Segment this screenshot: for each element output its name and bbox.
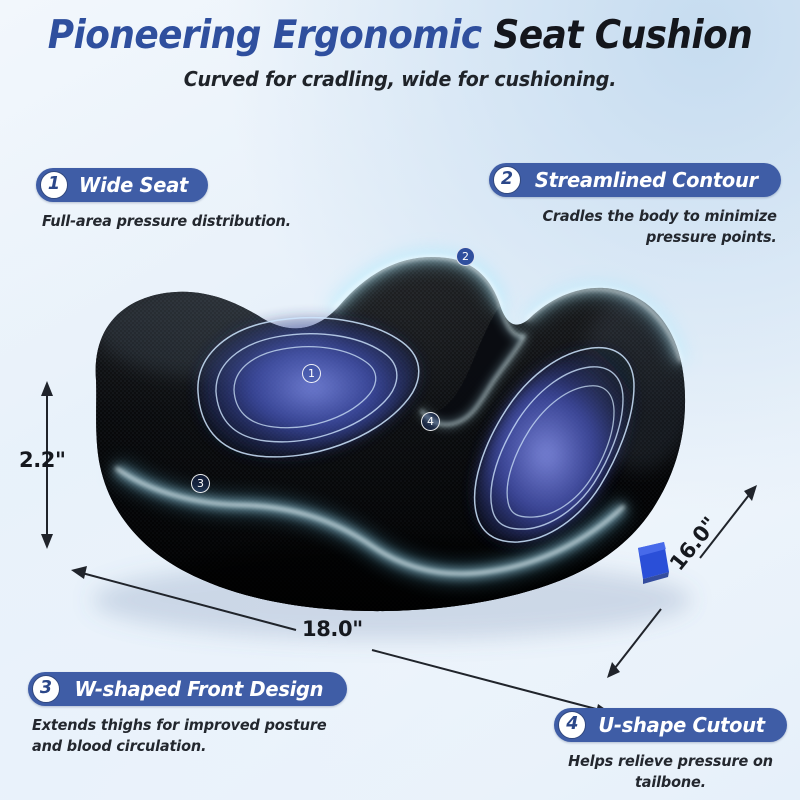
feature-u-shape-cutout: 4 U-shape Cutout Helps relieve pressure … xyxy=(541,708,800,793)
callout-marker-1: 1 xyxy=(302,364,321,383)
feature-1-badge: 1 Wide Seat xyxy=(36,168,208,202)
feature-4-number: 4 xyxy=(558,711,586,739)
feature-3-badge: 3 W-shaped Front Design xyxy=(28,672,347,706)
callout-marker-4: 4 xyxy=(421,412,440,431)
callout-marker-2: 2 xyxy=(456,247,475,266)
feature-4-caption: Helps relieve pressure on tailbone. xyxy=(547,751,793,793)
feature-4-label: U-shape Cutout xyxy=(599,713,765,737)
callout-marker-3: 3 xyxy=(191,474,210,493)
feature-3-label: W-shaped Front Design xyxy=(75,677,324,701)
feature-w-shaped-front-design: 3 W-shaped Front Design Extends thighs f… xyxy=(28,672,347,757)
feature-3-caption: Extends thighs for improved posture and … xyxy=(32,715,331,757)
feature-2-caption: Cradles the body to minimize pressure po… xyxy=(503,206,776,248)
feature-1-label: Wide Seat xyxy=(79,173,188,197)
dimension-height-label: 2.2" xyxy=(19,448,66,472)
feature-streamlined-contour: 2 Streamlined Contour Cradles the body t… xyxy=(489,163,781,248)
feature-2-caption-line-2: pressure points. xyxy=(503,227,776,248)
feature-wide-seat: 1 Wide Seat Full-area pressure distribut… xyxy=(36,168,304,232)
feature-2-number: 2 xyxy=(493,166,521,194)
feature-3-caption-line-2: and blood circulation. xyxy=(32,736,331,757)
feature-3-caption-line-1: Extends thighs for improved posture xyxy=(32,715,331,736)
brand-tag xyxy=(638,542,669,584)
feature-1-number: 1 xyxy=(40,171,68,199)
feature-4-badge: 4 U-shape Cutout xyxy=(554,708,786,742)
feature-3-number: 3 xyxy=(32,675,60,703)
feature-2-label: Streamlined Contour xyxy=(535,168,758,192)
infographic-page: Pioneering Ergonomic Seat Cushion Curved… xyxy=(0,0,800,800)
feature-2-caption-line-1: Cradles the body to minimize xyxy=(503,206,776,227)
feature-2-badge: 2 Streamlined Contour xyxy=(489,163,781,197)
dimension-width-label: 18.0" xyxy=(302,617,363,641)
feature-1-caption: Full-area pressure distribution. xyxy=(42,211,291,232)
